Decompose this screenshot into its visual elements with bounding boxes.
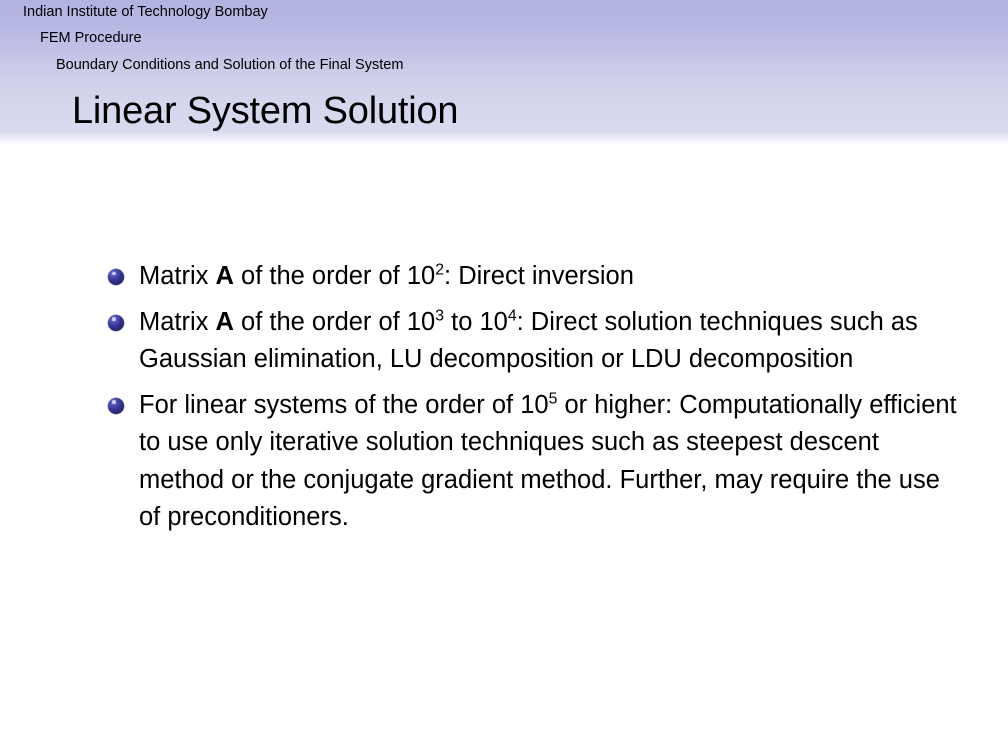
slide-page: { "header": { "institute": "Indian Insti… (0, 0, 1008, 756)
matrix-symbol: A (216, 262, 234, 290)
text-run: For linear systems of the order of 10 (139, 391, 549, 419)
text-run: to 10 (444, 308, 508, 336)
slide-body: Matrix A of the order of 102: Direct inv… (0, 145, 1008, 756)
text-run: of the order of 10 (234, 308, 435, 336)
list-item: Matrix A of the order of 103 to 104: Dir… (108, 304, 958, 379)
list-item: Matrix A of the order of 102: Direct inv… (108, 258, 958, 296)
navy-sphere-bullet-icon (108, 269, 124, 285)
slide-header: Indian Institute of Technology Bombay FE… (0, 0, 1008, 145)
text-run: : Direct inversion (444, 262, 634, 290)
exponent: 3 (435, 307, 444, 324)
list-item-label: Matrix A of the order of 102: Direct inv… (139, 262, 634, 290)
text-run: Matrix (139, 262, 216, 290)
list-item-label: Matrix A of the order of 103 to 104: Dir… (139, 308, 918, 374)
slide-title: Linear System Solution (72, 92, 458, 130)
exponent: 4 (508, 307, 517, 324)
text-run: of the order of 10 (234, 262, 435, 290)
navy-sphere-bullet-icon (108, 398, 124, 414)
header-institute: Indian Institute of Technology Bombay (23, 5, 268, 20)
bullet-list: Matrix A of the order of 102: Direct inv… (108, 258, 958, 537)
text-run: Matrix (139, 308, 216, 336)
navy-sphere-bullet-icon (108, 315, 124, 331)
list-item: For linear systems of the order of 105 o… (108, 387, 958, 537)
header-subsection: Boundary Conditions and Solution of the … (56, 58, 403, 73)
header-section: FEM Procedure (40, 31, 142, 46)
list-item-label: For linear systems of the order of 105 o… (139, 391, 957, 532)
exponent: 2 (435, 262, 444, 279)
matrix-symbol: A (216, 308, 234, 336)
